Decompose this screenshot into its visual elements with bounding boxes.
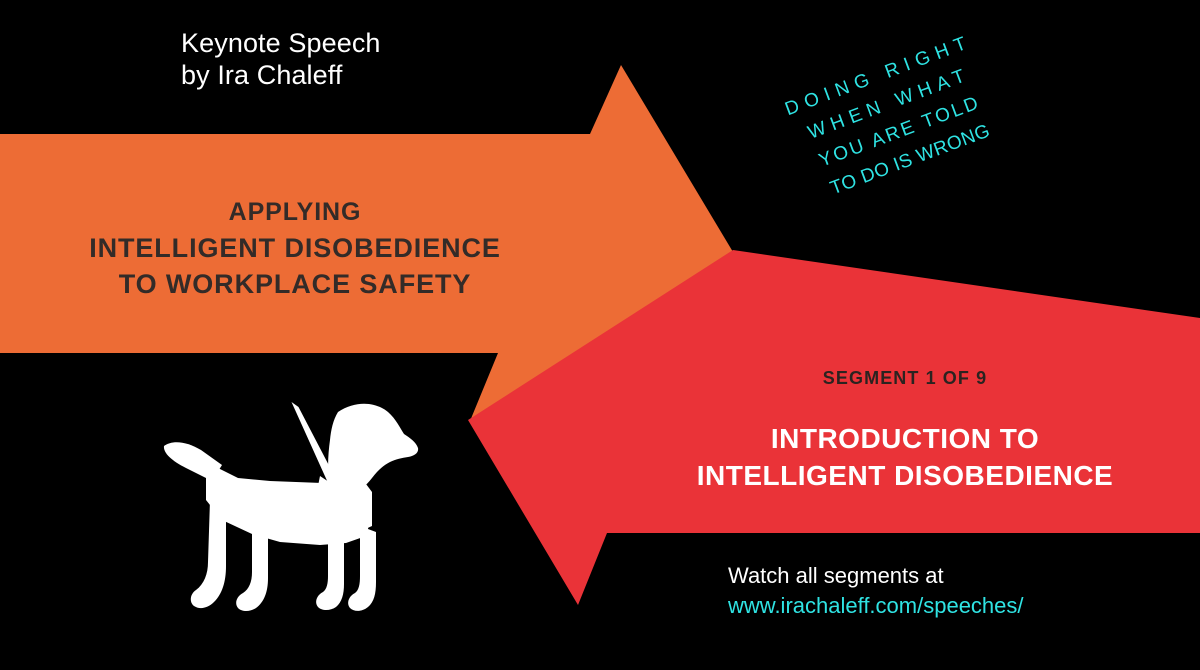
segment-title: INTRODUCTION TO INTELLIGENT DISOBEDIENCE <box>610 420 1200 494</box>
guide-dog-icon <box>160 396 430 621</box>
presentation-title-line-1: APPLYING <box>0 194 590 230</box>
footer-url-link[interactable]: www.irachaleff.com/speeches/ <box>728 591 1024 621</box>
presentation-title-line-3: TO WORKPLACE SAFETY <box>0 266 590 302</box>
segment-title-line-2: INTELLIGENT DISOBEDIENCE <box>610 457 1200 494</box>
presentation-title-line-2: INTELLIGENT DISOBEDIENCE <box>0 230 590 266</box>
footer-watch-text: Watch all segments at <box>728 561 1024 591</box>
footer: Watch all segments at www.irachaleff.com… <box>728 561 1024 621</box>
slide-canvas: Keynote Speech by Ira Chaleff APPLYING I… <box>0 0 1200 670</box>
segment-title-line-1: INTRODUCTION TO <box>610 420 1200 457</box>
presentation-title: APPLYING INTELLIGENT DISOBEDIENCE TO WOR… <box>0 194 590 302</box>
keynote-credit: Keynote Speech by Ira Chaleff <box>181 27 381 91</box>
segment-label: SEGMENT 1 OF 9 <box>610 368 1200 389</box>
